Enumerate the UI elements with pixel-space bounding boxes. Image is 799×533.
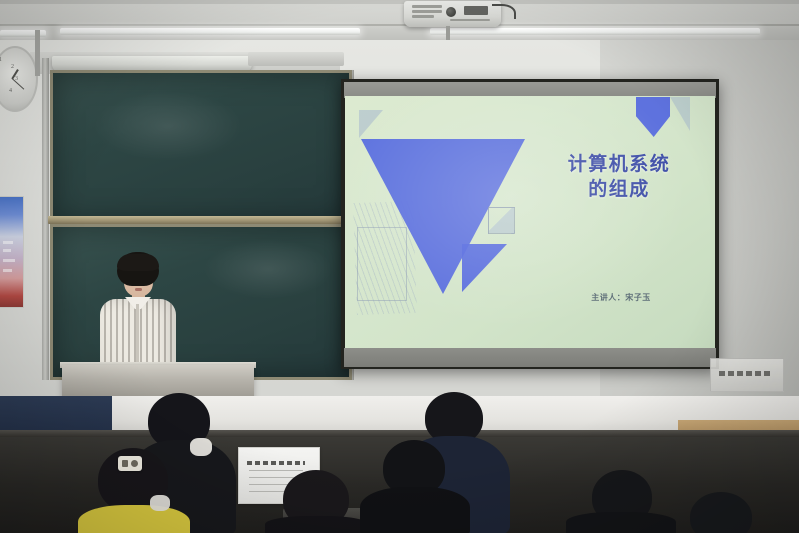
clock-number: 4: [9, 88, 12, 94]
fluorescent-light-tube: [60, 28, 360, 35]
projector-lens: [446, 7, 456, 17]
presenter-mouth: [135, 288, 142, 291]
podium: [62, 365, 254, 400]
slide-presenter-label: 主讲人：宋子玉: [541, 292, 701, 303]
ceiling-beam: [0, 0, 799, 4]
presenter-shirt-placket: [136, 304, 139, 364]
presenter: [95, 252, 181, 377]
projector-mount: [446, 26, 450, 40]
slide-shape-pentagon: [636, 97, 670, 137]
hair-clip: [118, 456, 142, 471]
slide-title-line-2: 的组成: [533, 177, 705, 202]
projector-cable: [492, 4, 516, 19]
chalk-rail: [48, 216, 350, 224]
blackboard-upper: [50, 70, 352, 224]
slide-title: 计算机系统 的组成: [533, 152, 705, 202]
slide-shape-ghost-triangle: [670, 97, 690, 131]
presenter-hair-fringe: [117, 254, 159, 271]
clock-number: 2: [11, 64, 14, 70]
blackboard-lamp: [248, 52, 344, 66]
projection-screen[interactable]: 计算机系统 的组成 主讲人：宋子玉: [345, 96, 715, 348]
slide-shape-small-triangle: [462, 244, 507, 292]
wall-notice-sign: [710, 358, 784, 392]
wall-poster: [0, 196, 24, 308]
slide-shape-ghost-triangle: [359, 110, 383, 138]
ceiling-seam: [0, 24, 799, 26]
slide-shape-square-outline: [488, 207, 515, 234]
desk-front-edge: [0, 430, 799, 437]
classroom-scene: 1 2 3 4 5: [0, 0, 799, 533]
wall-pipe: [35, 30, 40, 76]
screen-bottom-bar: [344, 348, 716, 367]
fluorescent-light-tube: [430, 28, 760, 35]
slide-title-line-1: 计算机系统: [533, 152, 705, 177]
clock-number: 1: [0, 57, 2, 63]
